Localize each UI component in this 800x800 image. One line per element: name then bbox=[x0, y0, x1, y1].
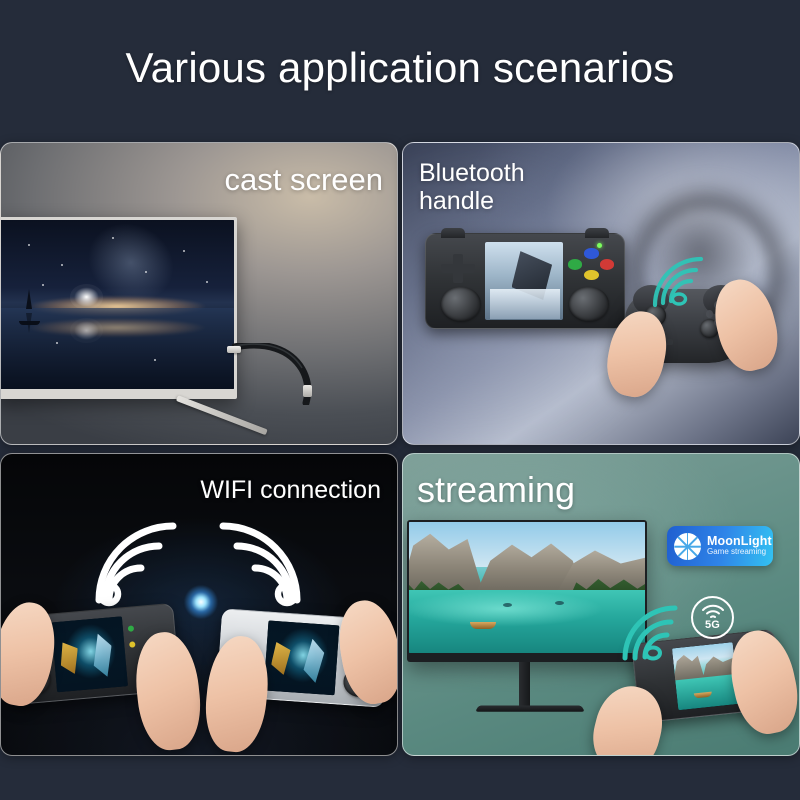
rowboat bbox=[470, 622, 496, 629]
handheld-screen bbox=[485, 242, 563, 321]
button-x[interactable] bbox=[584, 248, 598, 258]
analog-stick-left[interactable] bbox=[441, 287, 481, 322]
panel-bluetooth-handle[interactable]: Bluetooth handle bbox=[402, 142, 800, 445]
moonlight-spoke-icon bbox=[674, 533, 701, 560]
television bbox=[0, 217, 237, 399]
moonlight-subtitle: Game streaming bbox=[707, 548, 772, 557]
panel-label-bluetooth-handle: Bluetooth handle bbox=[419, 159, 525, 215]
lake-water bbox=[409, 590, 645, 653]
wifi-icon-right bbox=[215, 516, 309, 610]
wifi-icon-left bbox=[87, 516, 181, 610]
hand-player-one-right bbox=[131, 629, 205, 753]
moonlight-name: MoonLight bbox=[707, 535, 772, 549]
wifi-icon bbox=[701, 604, 725, 618]
button-a[interactable] bbox=[600, 259, 614, 269]
handheld-screen bbox=[51, 616, 127, 692]
button-b[interactable] bbox=[584, 270, 598, 280]
monitor-screen-lake-scene bbox=[409, 522, 645, 653]
handheld-console[interactable] bbox=[425, 233, 625, 329]
action-buttons[interactable] bbox=[567, 248, 615, 284]
scenario-grid: cast screen bbox=[0, 142, 800, 776]
network-5g-badge: 5G bbox=[691, 596, 734, 639]
tv-screen-night-sky bbox=[0, 220, 234, 389]
page-title: Various application scenarios bbox=[0, 44, 800, 92]
handheld-screen bbox=[264, 620, 339, 695]
moonlight-badge[interactable]: MoonLight Game streaming bbox=[667, 526, 773, 566]
button-y[interactable] bbox=[568, 259, 582, 269]
power-led bbox=[597, 243, 602, 248]
dpad[interactable] bbox=[441, 254, 475, 283]
bluetooth-signal-icon bbox=[647, 251, 709, 313]
panel-wifi-connection[interactable]: WIFI connection bbox=[0, 453, 398, 756]
analog-stick-right[interactable] bbox=[569, 287, 609, 322]
monitor-neck bbox=[519, 662, 530, 708]
panel-cast-screen[interactable]: cast screen bbox=[0, 142, 398, 445]
monitor bbox=[407, 520, 647, 662]
hdmi-plug-console-end bbox=[303, 385, 312, 397]
panel-label-wifi-connection: WIFI connection bbox=[200, 476, 381, 504]
panel-label-cast-screen: cast screen bbox=[224, 163, 383, 198]
network-label: 5G bbox=[705, 619, 720, 631]
hdmi-plug-tv-end bbox=[227, 346, 241, 353]
monitor-base bbox=[475, 705, 585, 711]
panel-label-streaming: streaming bbox=[417, 470, 575, 510]
streaming-signal-icon bbox=[619, 600, 687, 666]
panel-streaming[interactable]: streaming MoonLight bbox=[402, 453, 800, 756]
